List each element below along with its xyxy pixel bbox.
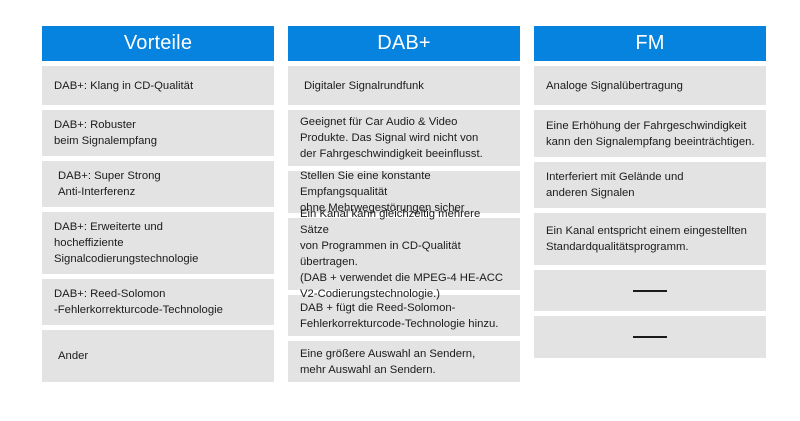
- table-column-vorteile: Vorteile DAB+: Klang in CD-Qualität DAB+…: [42, 26, 274, 387]
- table-cell: Analoge Signalübertragung: [534, 66, 766, 105]
- column-header-fm: FM: [534, 26, 766, 61]
- table-cell: DAB+: Klang in CD-Qualität: [42, 66, 274, 105]
- table-cell: DAB+: Robuster beim Signalempfang: [42, 110, 274, 156]
- table-cell: DAB+: Reed-Solomon -Fehlerkorrekturcode-…: [42, 279, 274, 325]
- dash-placeholder-icon: [633, 290, 667, 292]
- table-cell: Eine Erhöhung der Fahrgeschwindigkeit ka…: [534, 110, 766, 157]
- table-cell: Eine größere Auswahl an Sendern, mehr Au…: [288, 341, 520, 382]
- comparison-table: Vorteile DAB+: Klang in CD-Qualität DAB+…: [0, 0, 800, 421]
- column-header-dabplus: DAB+: [288, 26, 520, 61]
- table-cell: Interferiert mit Gelände und anderen Sig…: [534, 162, 766, 208]
- table-cell: DAB+: Super Strong Anti-Interferenz: [42, 161, 274, 207]
- column-cells-fm: Analoge Signalübertragung Eine Erhöhung …: [534, 66, 766, 358]
- table-cell: Geeignet für Car Audio & Video Produkte.…: [288, 110, 520, 166]
- table-cell: Ander: [42, 330, 274, 382]
- table-cell-empty: [534, 270, 766, 311]
- table-column-fm: FM Analoge Signalübertragung Eine Erhöhu…: [534, 26, 766, 363]
- table-cell: DAB+: Erweiterte und hocheffiziente Sign…: [42, 212, 274, 274]
- column-cells-vorteile: DAB+: Klang in CD-Qualität DAB+: Robuste…: [42, 66, 274, 382]
- table-column-dabplus: DAB+ Digitaler Signalrundfunk Geeignet f…: [288, 26, 520, 387]
- dash-placeholder-icon: [633, 336, 667, 338]
- column-cells-dabplus: Digitaler Signalrundfunk Geeignet für Ca…: [288, 66, 520, 382]
- column-header-vorteile: Vorteile: [42, 26, 274, 61]
- table-cell-empty: [534, 316, 766, 358]
- table-cell: Ein Kanal kann gleichzeitig mehrere Sätz…: [288, 218, 520, 290]
- table-cell: Digitaler Signalrundfunk: [288, 66, 520, 105]
- table-cell: DAB + fügt die Reed-Solomon- Fehlerkorre…: [288, 295, 520, 336]
- table-cell: Ein Kanal entspricht einem eingestellten…: [534, 213, 766, 265]
